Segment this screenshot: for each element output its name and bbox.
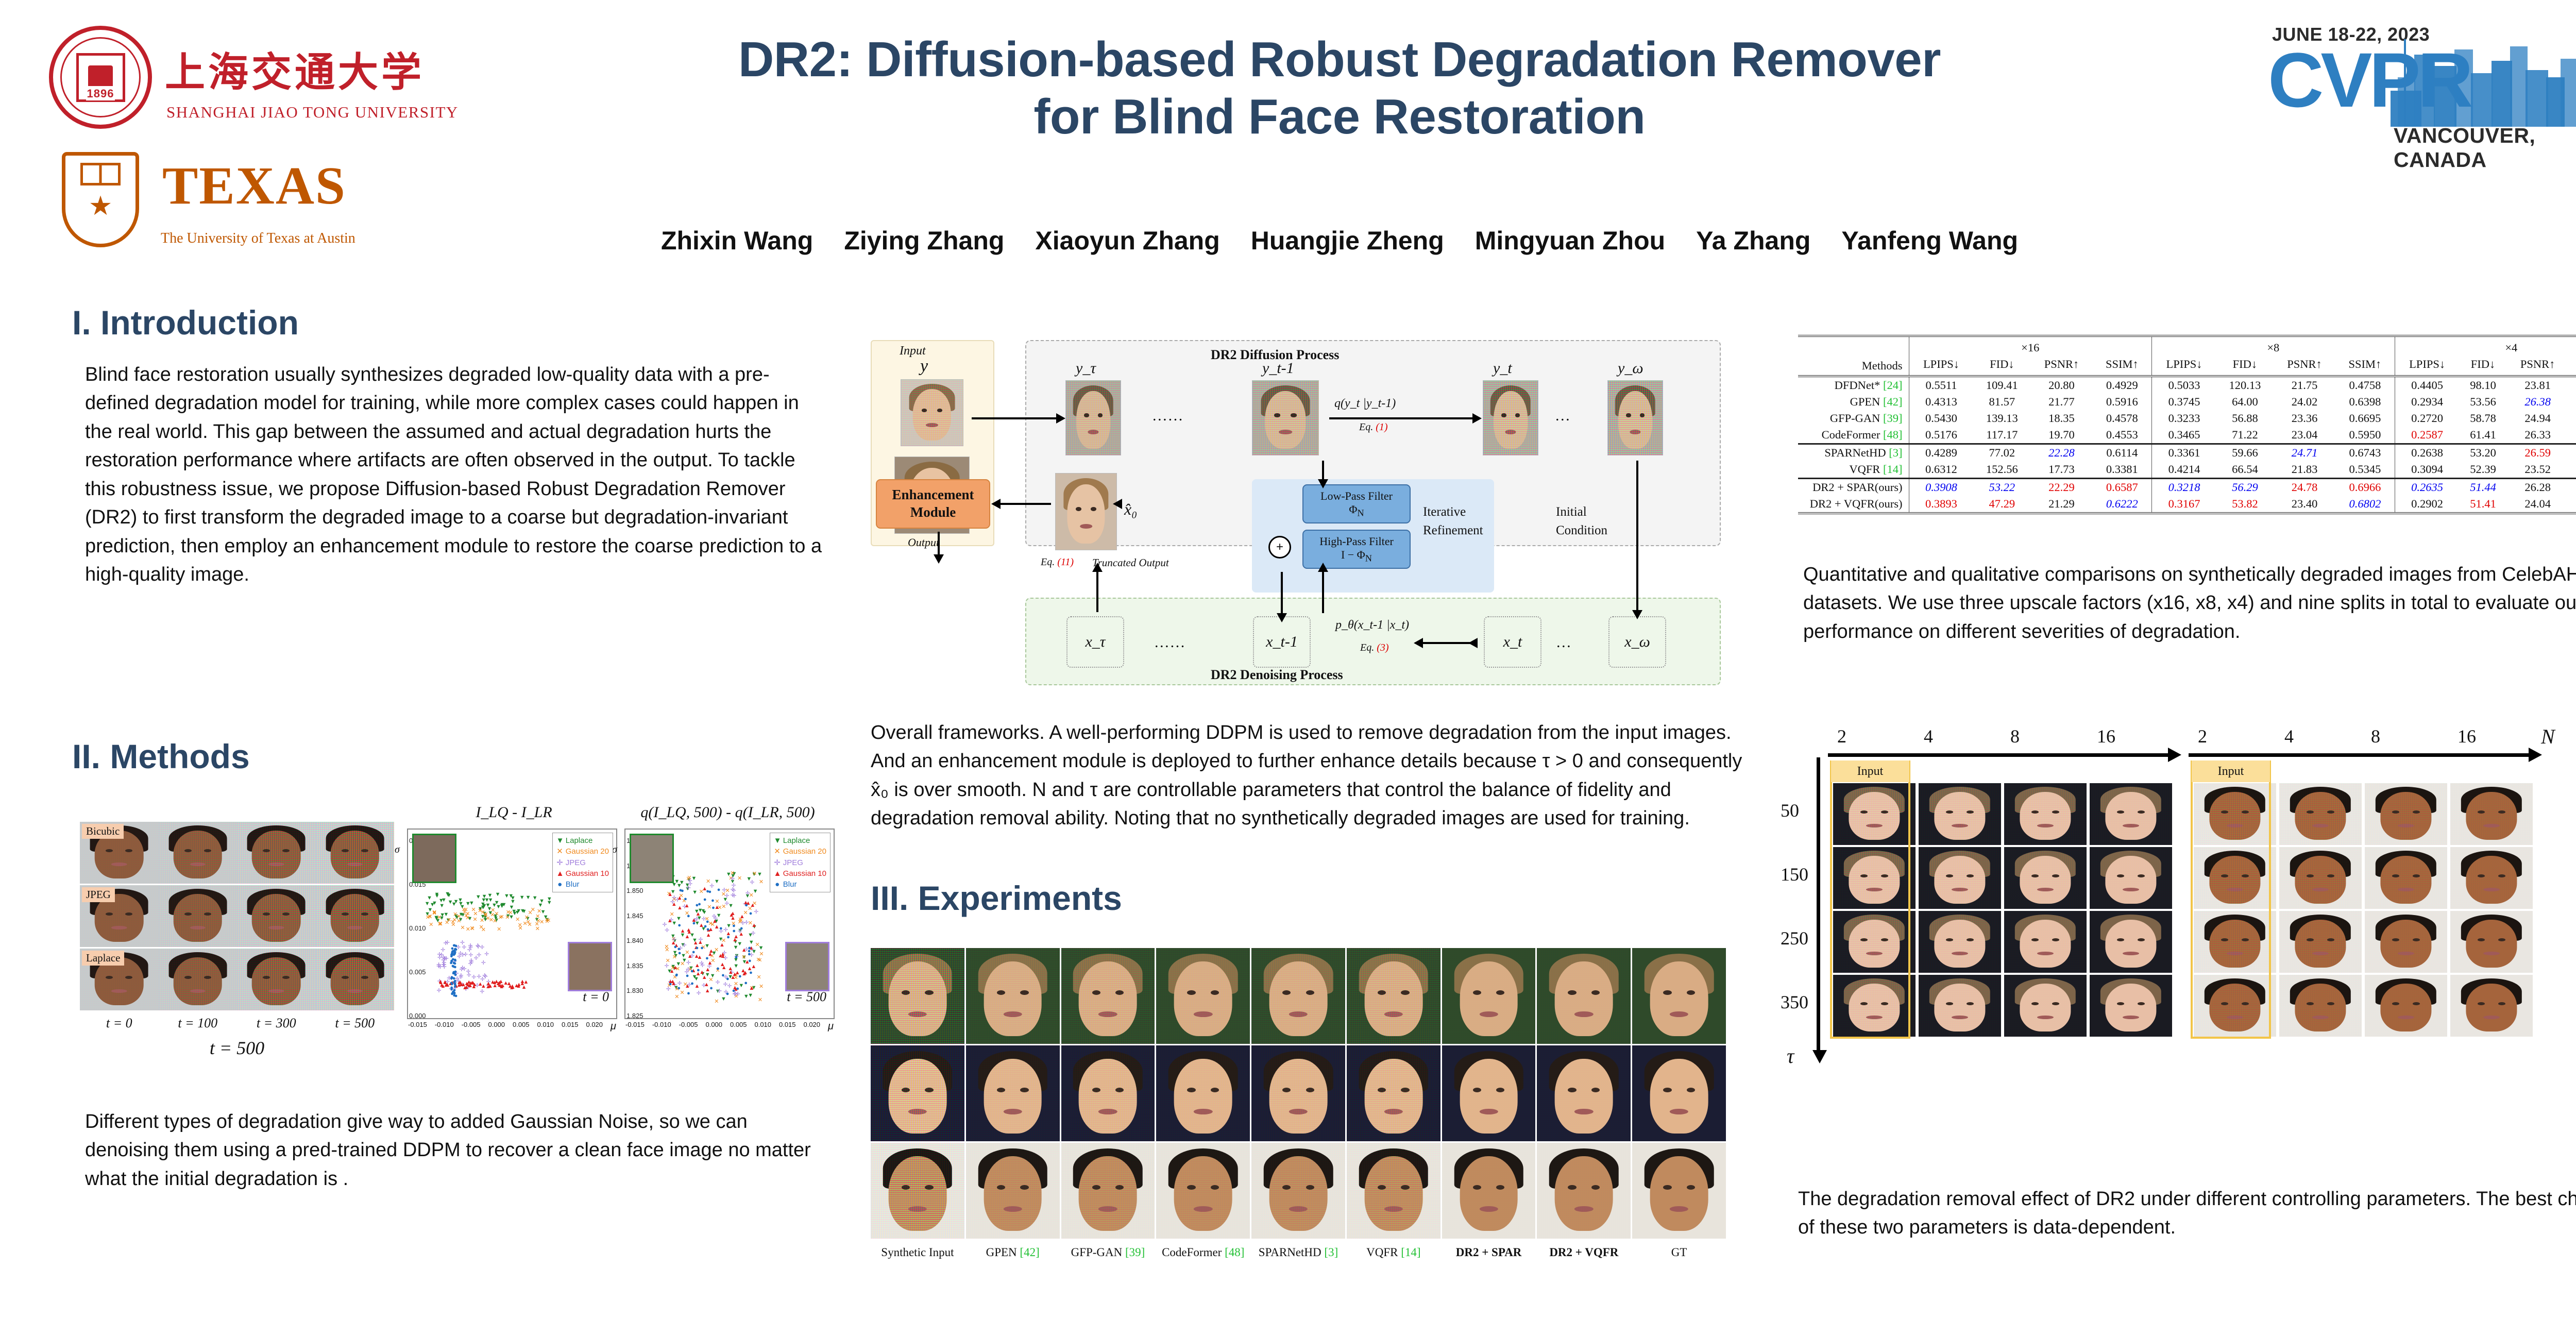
- low-pass-filter-label: Low-Pass Filter: [1320, 489, 1393, 503]
- arrow-head: [991, 499, 1001, 509]
- method-name: GFP-GAN [39]: [1798, 410, 1909, 427]
- texas-subtitle: The University of Texas at Austin: [161, 230, 355, 247]
- metric-header: FID↓: [2460, 356, 2507, 376]
- scatter-point: ▲: [750, 903, 755, 908]
- scatter-point: ✕: [759, 984, 764, 990]
- table-cell: 53.22: [1973, 479, 2030, 496]
- scatter-point: ✛: [754, 909, 758, 915]
- ut-shield-icon: ★: [62, 152, 139, 247]
- scatter-point: ✕: [432, 910, 437, 916]
- table-cell: 52.39: [2460, 461, 2507, 479]
- parameter-sweep-cell: [2279, 783, 2362, 845]
- scatter-point: ▼: [495, 892, 501, 898]
- table-cell: 0.4578: [2093, 410, 2152, 427]
- table-cell: 0.3094: [2395, 461, 2459, 479]
- degradation-type-tag: Bicubic: [82, 824, 124, 839]
- scatter-point: ✕: [464, 914, 468, 919]
- enhancement-module-box[interactable]: Enhancement Module: [876, 479, 990, 529]
- parameter-sweep-cell: [2365, 783, 2447, 845]
- scatter-point: ●: [744, 980, 748, 986]
- diagram-caption: Overall frameworks. A well-performing DD…: [871, 719, 1747, 833]
- scatter-point: ▲: [667, 892, 673, 898]
- n-value-label: 8: [2010, 725, 2020, 747]
- face-image: [316, 949, 395, 1010]
- scatter-point: ▼: [749, 940, 754, 945]
- parameter-sweep-cell: [2450, 975, 2533, 1037]
- timestep-labels: t = 0t = 100t = 300t = 500: [80, 1016, 394, 1031]
- scatter-point: ✕: [428, 914, 432, 920]
- x-tick-label: -0.005: [462, 1021, 481, 1033]
- face-image: [2194, 783, 2276, 845]
- method-name: SPARNetHD [3]: [1798, 444, 1909, 462]
- face-image: [1156, 948, 1250, 1044]
- scatter-point: ✛: [745, 891, 750, 897]
- table-cell: 0.6966: [2335, 479, 2395, 496]
- x-tick-label: 0.005: [513, 1021, 530, 1033]
- scatter-point: ✛: [686, 960, 691, 966]
- arrow-head: [1277, 613, 1287, 622]
- scatter-right-thumb-laplace: [630, 834, 674, 883]
- scatter-point: ●: [453, 991, 456, 996]
- table-cell: 0.3745: [2152, 394, 2216, 410]
- scatter-point: ✕: [480, 918, 484, 924]
- scatter-point: ▼: [480, 902, 486, 907]
- scatter-point: ▼: [445, 891, 450, 897]
- arrow-head: [934, 554, 944, 564]
- scatter-point: ▼: [425, 901, 430, 907]
- metric-header: SSIM↑: [2093, 356, 2152, 376]
- table-cell: 0.3361: [2152, 444, 2216, 462]
- comparison-image: [871, 1045, 964, 1141]
- scatter-point: ▲: [694, 984, 700, 989]
- x-tick-label: 0.015: [562, 1021, 579, 1033]
- scatter-point: ▲: [704, 982, 709, 988]
- y-tick-label: 1.845: [626, 912, 643, 920]
- metric-header: PSNR↑: [2506, 356, 2568, 376]
- table-cell: 0.2720: [2395, 410, 2459, 427]
- arrow-line: [1281, 572, 1283, 613]
- skyline-building: [2510, 46, 2528, 127]
- scatter-point: ▼: [432, 901, 437, 906]
- table-row: DFDNet* [24]0.5511109.4120.800.49290.503…: [1798, 376, 2576, 394]
- comparison-image: [1442, 1045, 1536, 1141]
- y-tick-label: 1.840: [626, 937, 643, 944]
- table-cell: 0.2587: [2395, 427, 2459, 444]
- scatter-point: ●: [740, 926, 743, 932]
- table-cell: 53.56: [2460, 394, 2507, 410]
- table-row: GPEN [42]0.431381.5721.770.59160.374564.…: [1798, 394, 2576, 410]
- scatter-point: ✕: [500, 915, 504, 920]
- tau-value-label: 350: [1781, 991, 1808, 1013]
- timestep-label: t = 300: [237, 1016, 316, 1031]
- face-image: [2365, 911, 2447, 973]
- degradation-cell: [316, 885, 395, 947]
- scatter-point: ✛: [469, 960, 473, 966]
- comparison-image: [1537, 1143, 1631, 1239]
- parameter-sweep-caption: The degradation removal effect of DR2 un…: [1798, 1185, 2576, 1242]
- face-image: [1347, 948, 1440, 1044]
- scatter-point: ▲: [702, 975, 707, 980]
- scatter-point: ✕: [508, 910, 513, 916]
- face-image: [871, 1143, 964, 1239]
- table-cell: 0.3233: [2152, 410, 2216, 427]
- metric-header: SSIM↑: [2569, 356, 2576, 376]
- tau-value-label: 150: [1781, 864, 1808, 885]
- scatter-point: ●: [732, 928, 736, 934]
- scatter-point: ●: [692, 921, 696, 926]
- scatter-point: ●: [690, 969, 694, 974]
- parameter-sweep-cell: [2004, 783, 2087, 845]
- table-cell: 0.7263: [2569, 479, 2576, 496]
- face-image: [2450, 783, 2533, 845]
- comparison-image: [1347, 948, 1440, 1044]
- scatter-point: ✕: [756, 975, 761, 980]
- face-image: [1347, 1045, 1440, 1141]
- scatter-point: ▼: [448, 900, 453, 905]
- scatter-point: ●: [749, 911, 753, 917]
- parameter-sweep-cell: [2090, 975, 2172, 1037]
- scatter-point: ✛: [688, 882, 692, 887]
- scatter-point: ✛: [696, 991, 701, 996]
- table-cell: 0.7065: [2569, 427, 2576, 444]
- tau-symbol-label: τ: [1787, 1044, 1794, 1068]
- face-image: [966, 948, 1060, 1044]
- x-tick-label: 0.015: [779, 1021, 796, 1033]
- degradation-cell: [237, 885, 316, 947]
- face-image: [2450, 911, 2533, 973]
- n-axis-arrow: [2189, 753, 2529, 757]
- table-cell: 0.6335: [2569, 461, 2576, 479]
- comparison-image: [1632, 1045, 1726, 1141]
- comparison-row: [871, 1143, 1726, 1239]
- scatter-point: ✛: [459, 967, 464, 973]
- input-tag: Input: [2192, 760, 2270, 782]
- scatter-point: ✛: [731, 893, 735, 899]
- input-tag: Input: [1831, 760, 1909, 782]
- face-image: [1056, 474, 1116, 550]
- diffusion-ellipsis: …: [1556, 407, 1570, 425]
- face-image: [2004, 975, 2087, 1037]
- table-cell: 0.7057: [2569, 394, 2576, 410]
- scatter-point: ✛: [466, 969, 470, 975]
- face-image: [1251, 948, 1345, 1044]
- table-cell: 21.75: [2274, 376, 2335, 394]
- scatter-point: ●: [736, 986, 739, 992]
- face-image: [1483, 381, 1538, 455]
- sjtu-english-name: SHANGHAI JIAO TONG UNIVERSITY: [166, 103, 459, 122]
- table-cell: 109.41: [1973, 376, 2030, 394]
- scatter-point: ●: [675, 973, 679, 978]
- diffusion-ellipsis: ……: [1153, 407, 1184, 425]
- scatter-point: ▲: [471, 984, 477, 990]
- comparison-image: [966, 1143, 1060, 1239]
- degradation-cell: Laplace: [80, 949, 159, 1010]
- scatter-point: ●: [711, 898, 715, 904]
- legend-entry: ✕ Gaussian 20: [774, 846, 826, 857]
- parameter-sweep-cell: [2004, 975, 2087, 1037]
- scatter-point: ●: [703, 897, 707, 903]
- face-image: [2194, 975, 2276, 1037]
- scatter-point: ●: [726, 976, 730, 982]
- comparison-column-label: GFP-GAN [39]: [1061, 1246, 1155, 1259]
- arrow-head: [2529, 748, 2542, 762]
- scatter-point: ✕: [460, 925, 465, 931]
- scatter-point: ▲: [730, 916, 736, 921]
- face-image: [2194, 847, 2276, 909]
- parameter-sweep-figure: 24816Input: [1767, 721, 2576, 1175]
- parameter-sweep-cell: [1833, 847, 1916, 909]
- scatter-point: ▼: [721, 996, 726, 1002]
- skyline-building: [2471, 73, 2493, 127]
- legend-label: Laplace: [783, 836, 810, 845]
- y-tick-label: 0.005: [409, 968, 426, 976]
- scatter-point: ●: [677, 986, 681, 991]
- table-cell: 23.36: [2274, 410, 2335, 427]
- scatter-left-ylabel: σ: [395, 844, 400, 856]
- scatter-point: ✕: [737, 876, 742, 882]
- table-cell: 58.78: [2460, 410, 2507, 427]
- arrow-line: [1096, 572, 1098, 612]
- degradation-cell: [316, 949, 395, 1010]
- scatter-point: ✕: [518, 926, 522, 932]
- arrow-head: [1318, 479, 1328, 488]
- method-name: CodeFormer [48]: [1798, 427, 1909, 444]
- comparison-image: [1251, 1143, 1345, 1239]
- scatter-point: ●: [735, 955, 738, 960]
- x-axis-symbol: μ: [611, 1021, 616, 1033]
- low-pass-symbol: ΦN: [1349, 503, 1364, 518]
- scatter-point: ▲: [733, 934, 739, 940]
- scatter-point: ▲: [684, 934, 690, 940]
- table-cell: 23.52: [2506, 461, 2568, 479]
- arrow-line: [938, 532, 940, 554]
- table-cell: 0.6743: [2335, 444, 2395, 462]
- table-cell: 24.02: [2274, 394, 2335, 410]
- comparison-image: [966, 1045, 1060, 1141]
- table-cell: 120.13: [2216, 376, 2274, 394]
- method-name: VQFR [14]: [1798, 461, 1909, 479]
- face-image: [2365, 847, 2447, 909]
- scatter-point: ✕: [680, 961, 685, 967]
- scatter-point: ●: [700, 945, 704, 951]
- scatter-point: ▲: [492, 983, 498, 989]
- scatter-point: ✕: [535, 914, 540, 920]
- parameter-sweep-cell: [2090, 911, 2172, 973]
- comparison-image: [1347, 1045, 1440, 1141]
- comparison-column-label: GT: [1632, 1246, 1726, 1259]
- degradation-row: Laplace: [80, 949, 394, 1010]
- face-image: [1537, 948, 1631, 1044]
- parameter-sweep-cell: [2365, 847, 2447, 909]
- cvpr-city: VANCOUVER, CANADA: [2394, 124, 2576, 172]
- poster-root: 上海交通大学 SHANGHAI JIAO TONG UNIVERSITY ★ T…: [0, 0, 2576, 1319]
- diffusion-step-symbol: y_t: [1493, 360, 1512, 377]
- parameter-sweep-cell: [2279, 911, 2362, 973]
- initial-condition-label: InitialCondition: [1556, 503, 1607, 540]
- scatter-point: ✕: [483, 913, 488, 919]
- face-image: [2004, 847, 2087, 909]
- face-image: [1442, 1045, 1536, 1141]
- face-image: [2194, 911, 2276, 973]
- face-image: [1066, 381, 1121, 455]
- table-row: DR2 + SPAR(ours)0.390853.2222.290.65870.…: [1798, 479, 2576, 496]
- face-image: [1442, 948, 1536, 1044]
- scatter-point: ●: [674, 944, 677, 950]
- face-image: [1632, 1143, 1726, 1239]
- arrow-head: [1632, 610, 1642, 619]
- scatter-point: ●: [695, 903, 699, 908]
- scatter-point: ✕: [479, 925, 483, 931]
- comparison-row: [871, 948, 1726, 1044]
- table-row: SPARNetHD [3]0.428977.0222.280.61140.336…: [1798, 444, 2576, 462]
- legend-entry: ✕ Gaussian 20: [556, 846, 609, 857]
- scatter-point: ●: [669, 982, 672, 987]
- scatter-point: ✕: [445, 920, 449, 926]
- legend-entry: ▼ Laplace: [556, 835, 609, 846]
- n-value-label: 4: [2284, 725, 2294, 747]
- comparison-image: [1061, 948, 1155, 1044]
- scatter-left-legend: ▼ Laplace✕ Gaussian 20✛ JPEG▲ Gaussian 1…: [552, 833, 613, 892]
- parameter-sweep-cell: [1919, 783, 2001, 845]
- scatter-point: ✛: [666, 987, 671, 992]
- scatter-point: ▼: [526, 895, 531, 901]
- skyline-building: [2398, 77, 2415, 127]
- scatter-point: ●: [748, 952, 751, 957]
- y-tick-label: 1.825: [626, 1012, 643, 1020]
- metric-header: SSIM↑: [2335, 356, 2395, 376]
- scatter-point: ▼: [485, 903, 491, 908]
- scatter-point: ✕: [672, 955, 677, 960]
- arrow-head: [1092, 563, 1103, 572]
- table-cell: 22.28: [2030, 444, 2092, 462]
- parameter-sweep-cell: [2194, 911, 2276, 973]
- scatter-point: ✕: [526, 920, 531, 925]
- table-cell: 0.3167: [2152, 496, 2216, 513]
- scatter-point: ✕: [759, 952, 764, 957]
- degradation-type-tag: Laplace: [82, 951, 124, 966]
- denoise-step-box: x_t-1: [1253, 616, 1311, 668]
- face-image: [1833, 911, 1916, 973]
- scatter-point: ●: [726, 991, 730, 997]
- scatter-point: ●: [687, 991, 690, 996]
- low-pass-filter-box: Low-Pass FilterΦN: [1302, 484, 1411, 523]
- table-cell: 0.6844: [2569, 496, 2576, 513]
- scatter-point: ▲: [720, 962, 725, 968]
- scatter-point: ▲: [667, 918, 673, 924]
- x-tick-label: 0.010: [754, 1021, 771, 1033]
- scatter-point: ●: [726, 935, 730, 940]
- table-row: DR2 + VQFR(ours)0.389347.2921.290.62220.…: [1798, 496, 2576, 513]
- legend-label: Gaussian 10: [566, 869, 609, 878]
- face-image: [1537, 1143, 1631, 1239]
- arrow-line: [1329, 417, 1472, 419]
- scatter-point: ▲: [739, 914, 745, 920]
- face-image: [1632, 1045, 1726, 1141]
- face-image: [2450, 975, 2533, 1037]
- author-name: Ya Zhang: [1696, 226, 1810, 256]
- legend-label: Gaussian 20: [566, 847, 609, 856]
- x-tick-label: 0.000: [705, 1021, 722, 1033]
- scatter-point: ▼: [434, 893, 440, 899]
- legend-entry: ✛ JPEG: [774, 857, 826, 868]
- x-tick-label: -0.010: [652, 1021, 671, 1033]
- table-cell: 117.17: [1973, 427, 2030, 444]
- title-line-1: DR2: Diffusion-based Robust Degradation …: [453, 31, 2226, 88]
- degradation-row: JPEG: [80, 885, 394, 947]
- face-image: [2279, 975, 2362, 1037]
- table-cell: 0.6398: [2335, 394, 2395, 410]
- parameter-sweep-cell: [2004, 847, 2087, 909]
- scatter-point: ▲: [442, 979, 448, 985]
- x-axis-symbol: μ: [828, 1021, 834, 1033]
- face-image: [1833, 783, 1916, 845]
- scatter-point: ✛: [480, 989, 484, 995]
- table-cell: 0.2638: [2395, 444, 2459, 462]
- skyline-building: [2526, 70, 2548, 127]
- table-cell: 21.29: [2030, 496, 2092, 513]
- qualitative-comparison-grid: Synthetic InputGPEN [42]GFP-GAN [39]Code…: [871, 948, 1726, 1259]
- table-cell: 20.80: [2030, 376, 2092, 394]
- metric-header: PSNR↑: [2274, 356, 2335, 376]
- table-cell: 0.4289: [1909, 444, 1973, 462]
- parameter-sweep-cell: [2194, 975, 2276, 1037]
- cvpr-badge: JUNE 18-22, 2023 CVPR VANCOUVER, CANADA: [2267, 14, 2576, 164]
- sjtu-seal-icon: [49, 26, 152, 129]
- scatter-point: ▼: [504, 893, 510, 899]
- x-tick-label: -0.015: [625, 1021, 645, 1033]
- scatter-point: ▲: [714, 905, 720, 910]
- scatter-point: ▲: [751, 923, 757, 928]
- scatter-point: ✕: [471, 907, 476, 913]
- method-name: DR2 + SPAR(ours): [1798, 479, 1909, 496]
- scatter-point: ▼: [482, 894, 487, 900]
- degradation-cell: [159, 885, 238, 947]
- denoise-ellipsis: …: [1557, 634, 1571, 651]
- x-tick-label: 0.020: [803, 1021, 820, 1033]
- comparison-column-label: GPEN [42]: [966, 1246, 1060, 1259]
- metric-header: LPIPS↓: [2395, 356, 2459, 376]
- table-cell: 0.2635: [2395, 479, 2459, 496]
- table-cell: 0.3893: [1909, 496, 1973, 513]
- scatter-point: ▼: [465, 901, 471, 907]
- table-cell: 59.66: [2216, 444, 2274, 462]
- scatter-point: ✕: [707, 905, 711, 910]
- skyline-building: [2414, 55, 2435, 127]
- table-cell: 26.33: [2506, 427, 2568, 444]
- scatter-point: ✛: [751, 931, 755, 937]
- scatter-point: ●: [705, 956, 709, 961]
- n-value-label: 2: [2198, 725, 2207, 747]
- degradation-scatter-figure: I_LQ - I_LR q(I_LQ, 500) - q(I_LR, 500) …: [407, 804, 835, 1033]
- table-cell: 17.73: [2030, 461, 2092, 479]
- scatter-point: ▲: [719, 942, 725, 948]
- truncated-output-label: Truncated Output: [1092, 556, 1169, 569]
- author-name: Xiaoyun Zhang: [1035, 226, 1219, 256]
- parameter-sweep-cell: [2450, 783, 2533, 845]
- timestep-label: t = 500: [316, 1016, 395, 1031]
- n-axis-arrow: [1828, 753, 2168, 757]
- scatter-point: ✛: [443, 941, 448, 946]
- table-cell: 24.94: [2506, 410, 2568, 427]
- scale-group-header: ×4: [2395, 336, 2576, 356]
- eq3-label: Eq. (3): [1360, 642, 1389, 654]
- scatter-point: ✛: [477, 974, 481, 980]
- face-image: [1347, 1143, 1440, 1239]
- scatter-plot-right: σ ▼ Laplace✕ Gaussian 20✛ JPEG▲ Gaussian…: [624, 828, 835, 1019]
- scatter-point: ✕: [755, 942, 760, 948]
- scatter-point: ✛: [484, 952, 489, 957]
- scatter-point: ▼: [476, 894, 481, 900]
